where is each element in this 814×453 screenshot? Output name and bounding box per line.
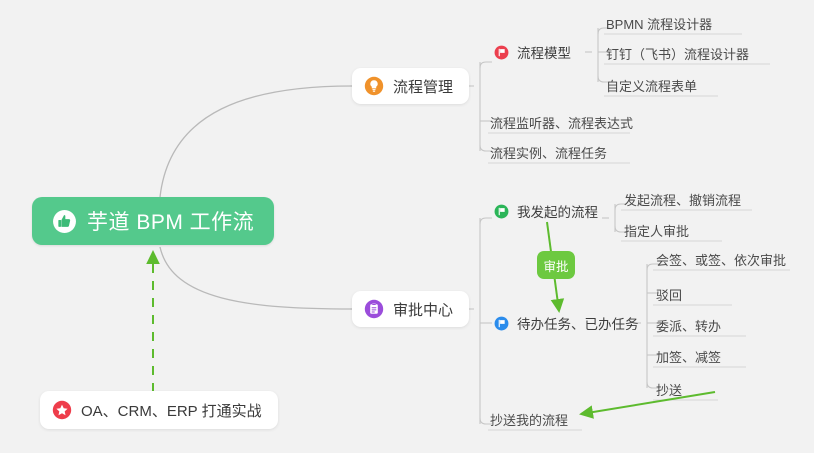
leaf-dingtalk-designer[interactable]: 钉钉（飞书）流程设计器 (606, 42, 749, 64)
leaf-label: 加签、减签 (656, 347, 721, 366)
leaf-label: 驳回 (656, 285, 682, 304)
connector-to-my-started-process (480, 218, 492, 224)
node-label: 待办任务、已办任务 (517, 313, 639, 333)
flag-icon (494, 45, 509, 60)
flag-icon (494, 316, 509, 331)
star-icon (52, 400, 72, 420)
leaf-label: 委派、转办 (656, 316, 721, 335)
leaf-label: 抄送我的流程 (490, 410, 568, 429)
leaf-label: 抄送 (656, 380, 682, 399)
leaf-cc-my-process[interactable]: 抄送我的流程 (490, 408, 568, 430)
leaf-label: 发起流程、撤销流程 (624, 190, 741, 209)
leaf-countersign[interactable]: 会签、或签、依次审批 (656, 248, 786, 270)
thumbs-up-icon (52, 209, 77, 234)
flag-icon (494, 204, 509, 219)
clipboard-icon (364, 299, 384, 319)
leaf-label: 流程监听器、流程表达式 (490, 113, 633, 132)
bottom-note-label: OA、CRM、ERP 打通实战 (81, 400, 262, 421)
bottom-note-node[interactable]: OA、CRM、ERP 打通实战 (40, 391, 278, 429)
leaf-add-remove-sign[interactable]: 加签、减签 (656, 345, 721, 367)
node-my-started-process[interactable]: 我发起的流程 (494, 200, 598, 222)
mindmap-canvas: 芋道 BPM 工作流 流程管理 流程模型 BPMN 流程设计器 钉钉（飞书）流程… (0, 0, 814, 453)
node-todo-done-tasks[interactable]: 待办任务、已办任务 (494, 312, 639, 334)
leaf-process-instance[interactable]: 流程实例、流程任务 (490, 141, 607, 163)
leaf-assignee-approval[interactable]: 指定人审批 (624, 219, 689, 241)
leaf-reject[interactable]: 驳回 (656, 283, 682, 305)
leaf-cc[interactable]: 抄送 (656, 378, 682, 400)
leaf-delegate-transfer[interactable]: 委派、转办 (656, 314, 721, 336)
connector-root-to-approval-center (160, 247, 352, 309)
root-label: 芋道 BPM 工作流 (87, 206, 254, 236)
lightbulb-icon (364, 76, 384, 96)
leaf-label: 流程实例、流程任务 (490, 143, 607, 162)
leaf-label: 自定义流程表单 (606, 76, 697, 95)
node-process-model[interactable]: 流程模型 (494, 41, 571, 63)
leaf-custom-form[interactable]: 自定义流程表单 (606, 74, 697, 96)
annotation-approval-tag: 审批 (537, 251, 575, 279)
branch-label: 流程管理 (393, 76, 453, 97)
leaf-label: 钉钉（飞书）流程设计器 (606, 44, 749, 63)
leaf-process-listener[interactable]: 流程监听器、流程表达式 (490, 111, 633, 133)
leaf-label: 指定人审批 (624, 221, 689, 240)
branch-label: 审批中心 (393, 299, 453, 320)
leaf-label: BPMN 流程设计器 (606, 14, 712, 33)
annotation-label: 审批 (544, 256, 569, 275)
connector-to-process-model (480, 62, 492, 68)
branch-process-management[interactable]: 流程管理 (352, 68, 469, 104)
root-node[interactable]: 芋道 BPM 工作流 (32, 197, 274, 245)
leaf-bpmn-designer[interactable]: BPMN 流程设计器 (606, 12, 712, 34)
leaf-label: 会签、或签、依次审批 (656, 250, 786, 269)
leaf-start-cancel-process[interactable]: 发起流程、撤销流程 (624, 188, 741, 210)
connector-root-to-process-management (160, 86, 352, 197)
node-label: 流程模型 (517, 42, 571, 62)
arrow-cc-to-cc-my-process (581, 392, 715, 414)
branch-approval-center[interactable]: 审批中心 (352, 291, 469, 327)
node-label: 我发起的流程 (517, 201, 598, 221)
